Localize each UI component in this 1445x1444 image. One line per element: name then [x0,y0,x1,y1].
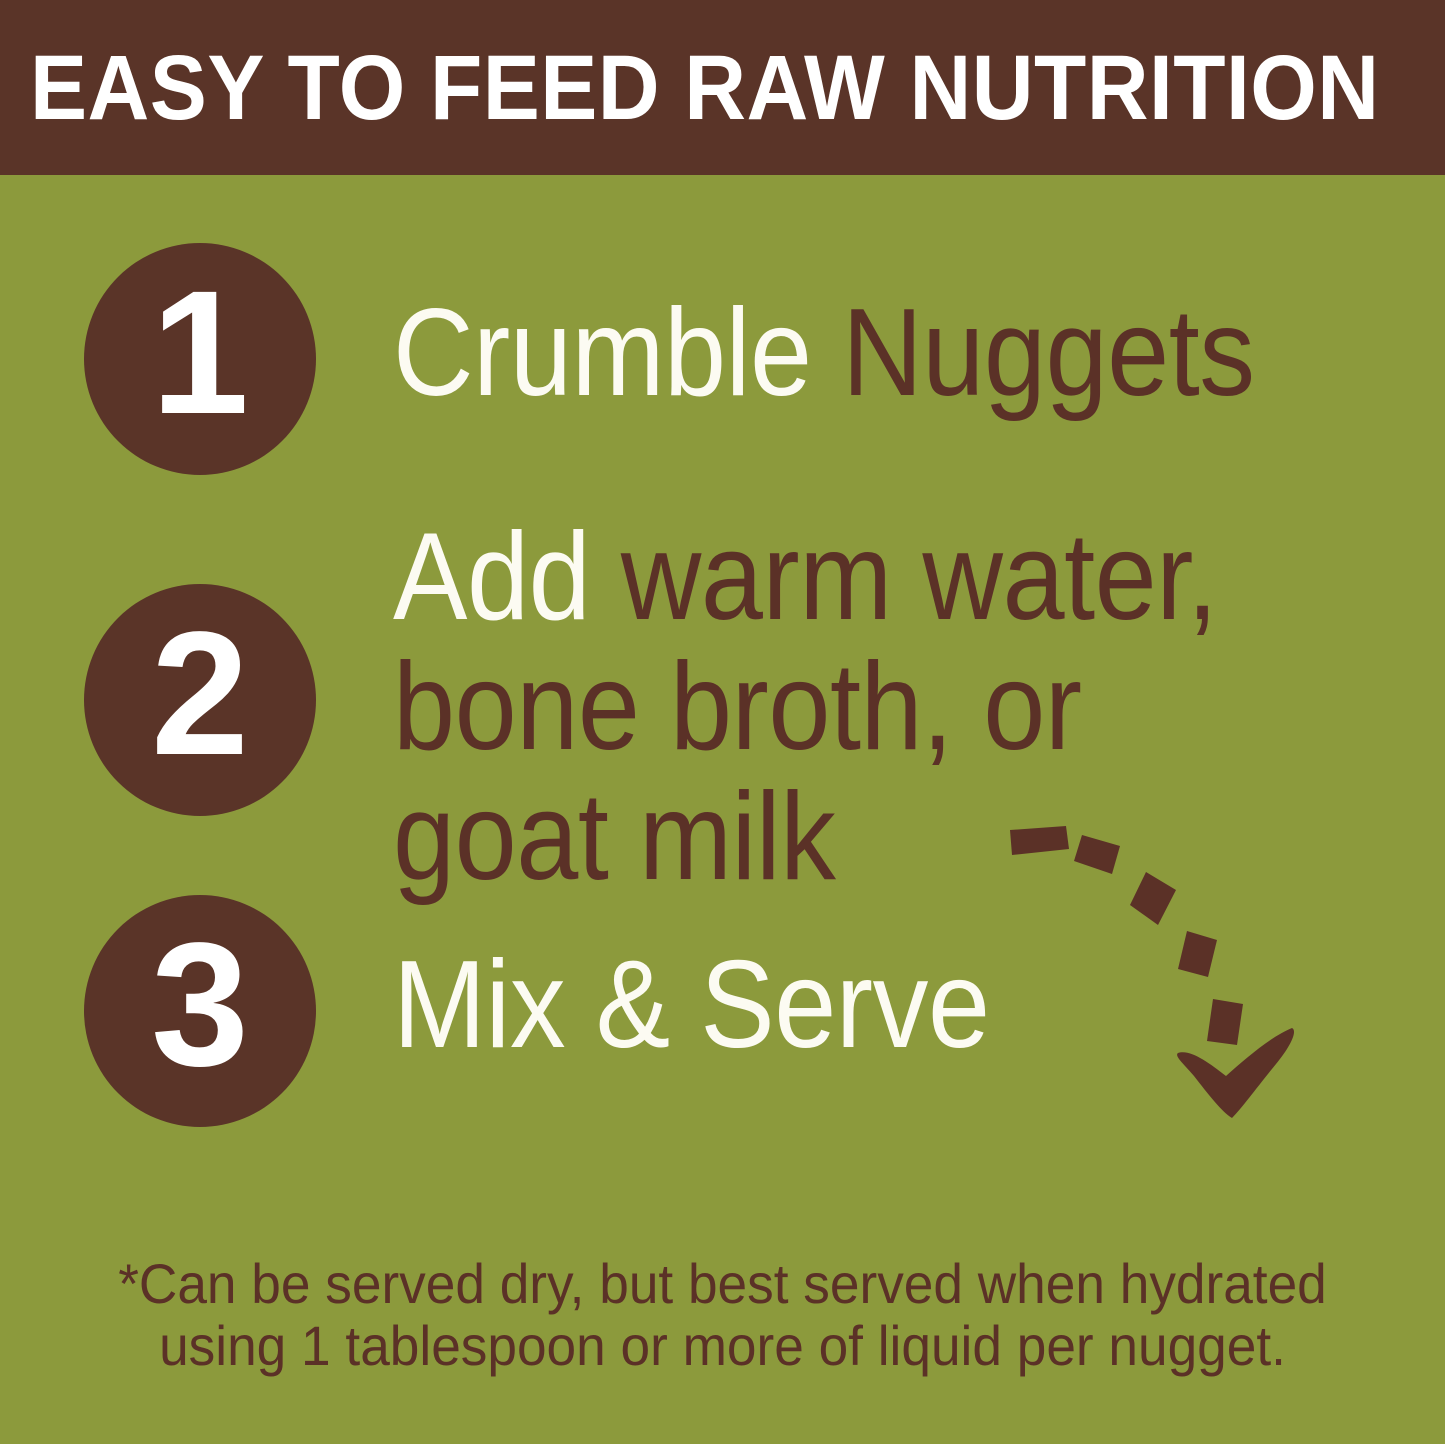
footnote-line-1: *Can be served dry, but best served when… [65,1253,1381,1315]
step-2-line-2-brown: bone broth, or [393,638,1082,776]
step-2-line-1-brown: warm water, [621,508,1218,646]
step-2-line-3-brown: goat milk [393,768,836,906]
footnote-line-2: using 1 tablespoon or more of liquid per… [65,1315,1381,1377]
step-number-2: 2 [151,606,249,782]
step-number-3: 3 [151,917,249,1093]
step-number-1: 1 [151,265,249,441]
step-text-3: Mix & Serve [393,940,990,1070]
step-badge-3: 3 [84,895,316,1127]
footnote: *Can be served dry, but best served when… [65,1253,1381,1377]
page-title: EASY TO FEED RAW NUTRITION [30,38,1318,138]
feeding-instructions-poster: EASY TO FEED RAW NUTRITION 1 Crumble Nug… [0,0,1445,1444]
step-2-line-1: Add warm water, [393,512,1217,642]
step-3-line-1-white: Mix & Serve [393,936,990,1074]
step-2-line-2: bone broth, or [393,642,1217,772]
step-1-line-1-brown: Nuggets [842,284,1255,422]
step-badge-2: 2 [84,584,316,816]
step-text-1: Crumble Nuggets [393,288,1255,418]
step-2-line-1-white: Add [393,508,621,646]
step-1-line-1-white: Crumble [393,284,842,422]
curved-dashed-arrow-icon [960,800,1320,1120]
step-badge-1: 1 [84,243,316,475]
